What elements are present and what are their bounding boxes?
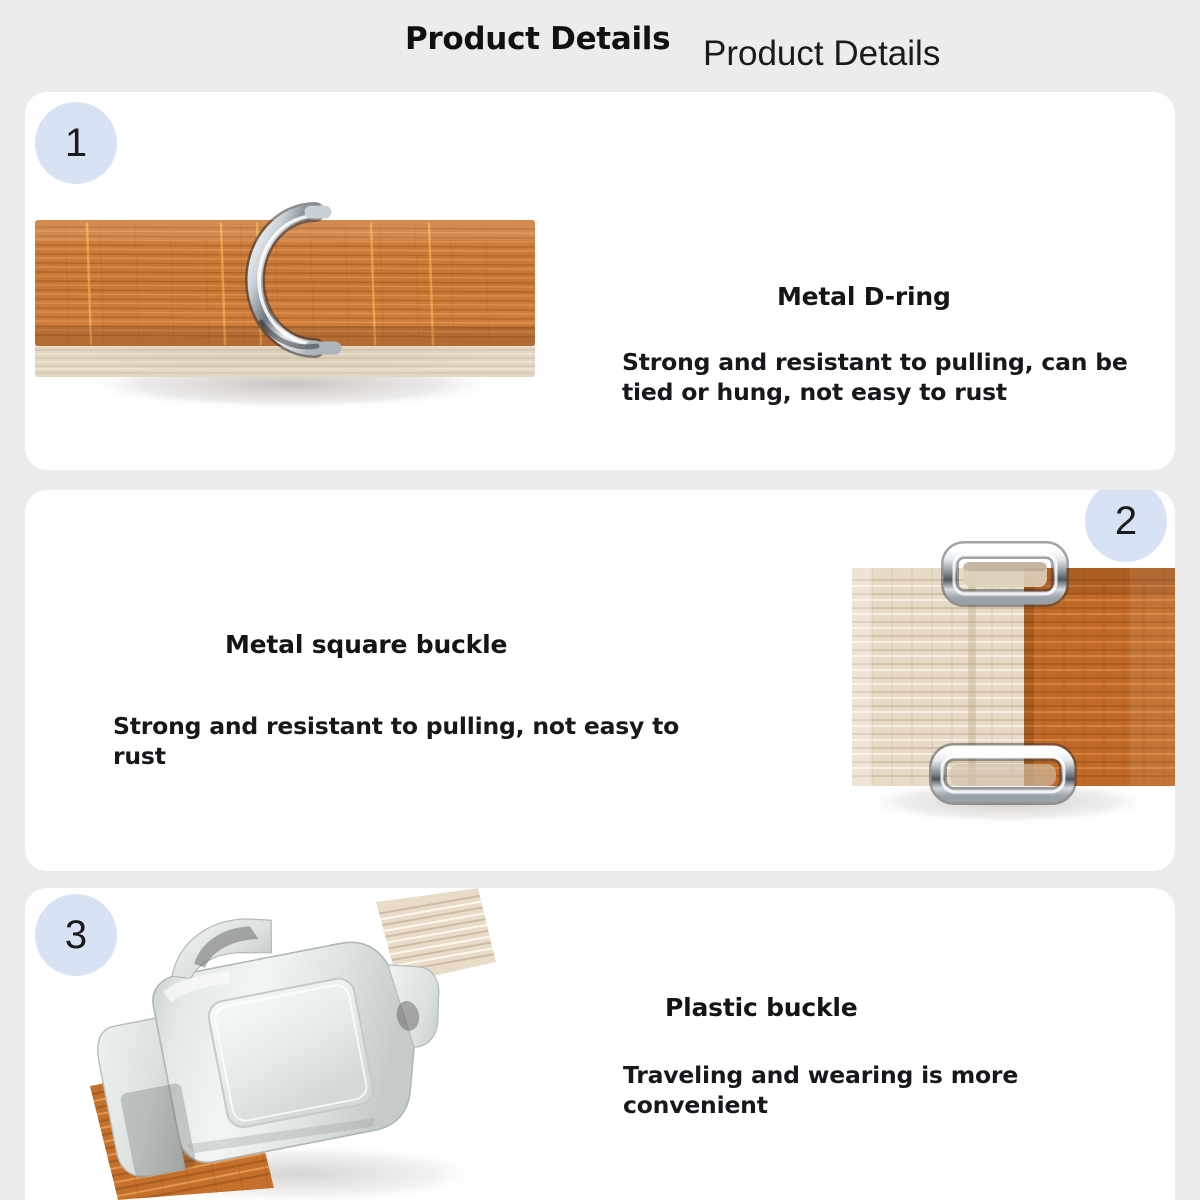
page-title-regular: Product Details <box>703 34 940 74</box>
detail-title: Metal D-ring <box>777 282 1167 311</box>
product-photo-metal-square-buckle <box>830 540 1175 830</box>
product-photo-plastic-buckle <box>60 888 530 1200</box>
detail-card-1: 1 <box>25 92 1175 470</box>
detail-text-block-1: Metal D-ring Strong and resistant to pul… <box>622 282 1167 407</box>
d-ring-illustration <box>25 172 545 462</box>
detail-title: Metal square buckle <box>225 630 723 659</box>
section-number-badge: 3 <box>35 894 117 976</box>
square-buckle-top-bar <box>950 550 1060 598</box>
square-buckle-bottom-bar <box>938 752 1068 796</box>
section-number-badge: 1 <box>35 102 117 184</box>
square-buckle-illustration <box>830 540 1175 830</box>
plastic-buckle-illustration <box>60 888 530 1200</box>
detail-description: Strong and resistant to pulling, not eas… <box>113 711 723 771</box>
detail-text-block-3: Plastic buckle Traveling and wearing is … <box>623 993 1093 1120</box>
detail-text-block-2: Metal square buckle Strong and resistant… <box>113 630 723 771</box>
product-photo-metal-d-ring <box>25 172 545 462</box>
detail-title: Plastic buckle <box>665 993 1093 1022</box>
detail-description: Traveling and wearing is more convenient <box>623 1060 1093 1120</box>
page-header: Product Details Product Details <box>0 0 1200 92</box>
detail-card-2: 2 Metal square buckle Strong and resista… <box>25 490 1175 871</box>
detail-description: Strong and resistant to pulling, can be … <box>622 347 1167 407</box>
detail-card-3: 3 <box>25 888 1175 1200</box>
page-title-bold: Product Details <box>405 21 670 57</box>
